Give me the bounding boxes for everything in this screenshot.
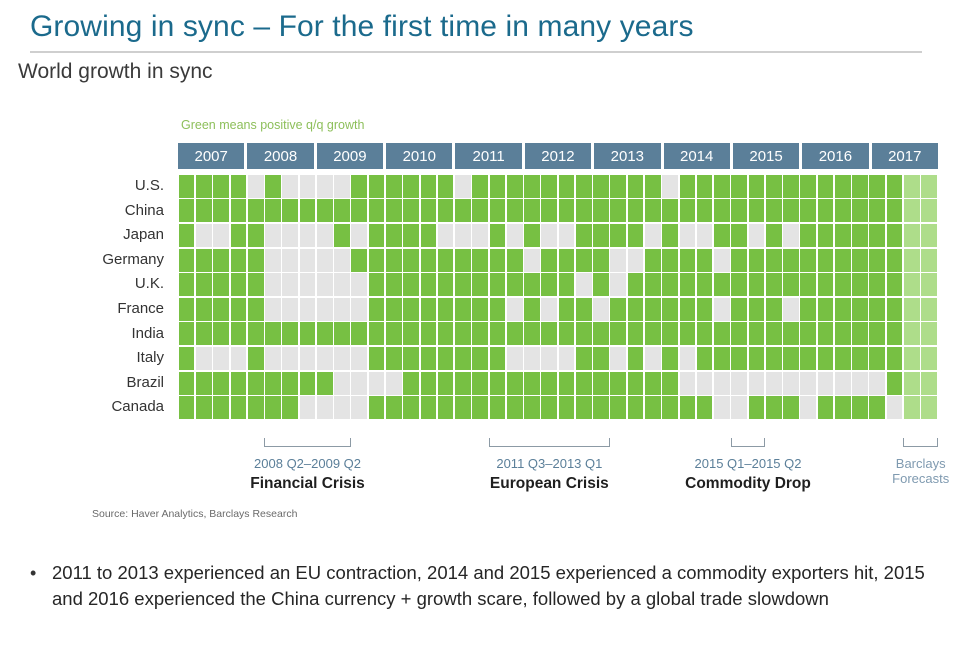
heatmap-cell	[593, 347, 609, 370]
year-header-2008: 2008	[247, 143, 313, 169]
heatmap-cell	[369, 224, 385, 247]
heatmap-cell	[455, 273, 471, 296]
heatmap-cell	[559, 298, 575, 321]
heatmap-cell	[766, 322, 782, 345]
heatmap-cell	[835, 249, 851, 272]
heatmap-cell	[213, 322, 229, 345]
heatmap-cell	[783, 298, 799, 321]
heatmap-cell	[369, 298, 385, 321]
country-label-india: India	[40, 322, 172, 347]
heatmap-cell	[559, 322, 575, 345]
heatmap-cell	[231, 249, 247, 272]
heatmap-cell	[231, 347, 247, 370]
heatmap-cell	[800, 199, 816, 222]
heatmap-cell	[714, 273, 730, 296]
heatmap-cell	[680, 322, 696, 345]
heatmap-cell	[403, 322, 419, 345]
heatmap-cell	[334, 372, 350, 395]
heatmap-cell	[904, 249, 920, 272]
heatmap-cell	[300, 224, 316, 247]
heatmap-row	[178, 272, 938, 297]
heatmap-cell	[610, 175, 626, 198]
heatmap-cell	[334, 249, 350, 272]
heatmap-cell	[317, 298, 333, 321]
heatmap-cell	[386, 175, 402, 198]
heatmap-cell	[645, 396, 661, 419]
heatmap-cell	[921, 175, 937, 198]
heatmap-cell	[887, 199, 903, 222]
heatmap-cell	[231, 322, 247, 345]
heatmap-cell	[282, 199, 298, 222]
heatmap-cell	[421, 175, 437, 198]
heatmap-cell	[628, 372, 644, 395]
heatmap-cell	[300, 199, 316, 222]
heatmap-cell	[731, 224, 747, 247]
year-header-2017: 2017	[872, 143, 938, 169]
heatmap-cell	[265, 347, 281, 370]
heatmap-cell	[334, 273, 350, 296]
heatmap-cell	[438, 347, 454, 370]
heatmap-cell	[610, 372, 626, 395]
heatmap-cell	[835, 273, 851, 296]
heatmap-cell	[904, 347, 920, 370]
heatmap-cell	[852, 273, 868, 296]
bracket-financial-crisis	[264, 438, 350, 447]
heatmap-cell	[576, 322, 592, 345]
heatmap-cell	[248, 199, 264, 222]
country-label-japan: Japan	[40, 223, 172, 248]
heatmap-cell	[610, 224, 626, 247]
heatmap-cell	[680, 372, 696, 395]
heatmap-cell	[697, 199, 713, 222]
heatmap-cell	[282, 298, 298, 321]
heatmap-cell	[593, 298, 609, 321]
heatmap-cell	[351, 372, 367, 395]
heatmap-cell	[541, 372, 557, 395]
heatmap-cell	[317, 396, 333, 419]
heatmap-cell	[421, 224, 437, 247]
heatmap-cell	[766, 372, 782, 395]
heatmap-cell	[749, 273, 765, 296]
heatmap-cell	[490, 249, 506, 272]
heatmap-cell	[265, 175, 281, 198]
heatmap-cell	[265, 199, 281, 222]
heatmap-cell	[317, 372, 333, 395]
heatmap-cell	[818, 298, 834, 321]
heatmap-cell	[317, 322, 333, 345]
heatmap-cell	[317, 199, 333, 222]
heatmap-cell	[403, 396, 419, 419]
heatmap-cell	[697, 396, 713, 419]
heatmap-cell	[645, 175, 661, 198]
heatmap-cell	[800, 249, 816, 272]
heatmap-cell	[697, 273, 713, 296]
heatmap-cell	[731, 372, 747, 395]
heatmap-cell	[869, 372, 885, 395]
heatmap-cell	[714, 199, 730, 222]
heatmap-cell	[662, 249, 678, 272]
heatmap-cell	[662, 175, 678, 198]
heatmap-cell	[714, 322, 730, 345]
heatmap-cell	[248, 249, 264, 272]
heatmap-cell	[731, 199, 747, 222]
heatmap-cell	[593, 273, 609, 296]
heatmap-cell	[179, 322, 195, 345]
heatmap-cell	[852, 175, 868, 198]
heatmap-cell	[887, 322, 903, 345]
heatmap-cell	[783, 347, 799, 370]
heatmap-cell	[645, 372, 661, 395]
bullet-marker: •	[30, 560, 52, 586]
heatmap-cell	[697, 372, 713, 395]
heatmap-cell	[472, 199, 488, 222]
heatmap-cell	[369, 199, 385, 222]
heatmap-cell	[645, 298, 661, 321]
country-label-france: France	[40, 297, 172, 322]
heatmap-cell	[507, 199, 523, 222]
heatmap-cell	[887, 175, 903, 198]
heatmap-cell	[213, 224, 229, 247]
heatmap-cell	[559, 372, 575, 395]
heatmap-cell	[731, 273, 747, 296]
heatmap-cell	[680, 298, 696, 321]
heatmap-cell	[213, 249, 229, 272]
heatmap-cell	[248, 396, 264, 419]
heatmap-cell	[351, 298, 367, 321]
heatmap-cell	[714, 224, 730, 247]
heatmap-cell	[196, 199, 212, 222]
heatmap-cell	[455, 322, 471, 345]
heatmap-cell	[490, 322, 506, 345]
heatmap-cell	[852, 347, 868, 370]
heatmap-cell	[818, 175, 834, 198]
heatmap-cell	[869, 396, 885, 419]
heatmap-cell	[455, 249, 471, 272]
heatmap-cell	[386, 273, 402, 296]
heatmap-cell	[645, 273, 661, 296]
heatmap-cell	[300, 273, 316, 296]
heatmap-cell	[351, 273, 367, 296]
heatmap-cell	[662, 199, 678, 222]
annotation-name-european-crisis: European Crisis	[439, 475, 659, 493]
bracket-barclays-forecast	[903, 438, 938, 447]
heatmap-cell	[282, 224, 298, 247]
heatmap-cell	[472, 347, 488, 370]
heatmap-cell	[507, 224, 523, 247]
heatmap-cell	[524, 249, 540, 272]
heatmap-cell	[818, 199, 834, 222]
heatmap-cell	[351, 199, 367, 222]
annotation-period-european-crisis: 2011 Q3–2013 Q1	[439, 456, 659, 471]
heatmap-cell	[490, 372, 506, 395]
heatmap-cell	[818, 273, 834, 296]
heatmap-cell	[766, 175, 782, 198]
heatmap-cell	[265, 372, 281, 395]
heatmap-cell	[179, 347, 195, 370]
heatmap-cell	[386, 322, 402, 345]
heatmap-cell	[507, 396, 523, 419]
heatmap-cell	[438, 298, 454, 321]
heatmap-cell	[317, 347, 333, 370]
heatmap-cell	[921, 298, 937, 321]
heatmap-cell	[231, 298, 247, 321]
heatmap-cell	[524, 175, 540, 198]
heatmap-cell	[421, 298, 437, 321]
heatmap-cell	[179, 175, 195, 198]
country-axis-labels: U.S.ChinaJapanGermanyU.K.FranceIndiaItal…	[40, 174, 172, 420]
heatmap-cell	[351, 347, 367, 370]
heatmap-cell	[921, 273, 937, 296]
heatmap-cell	[490, 224, 506, 247]
heatmap-cell	[921, 224, 937, 247]
heatmap-cell	[766, 298, 782, 321]
heatmap-cell	[714, 396, 730, 419]
heatmap-cell	[300, 372, 316, 395]
heatmap-cell	[248, 273, 264, 296]
heatmap-cell	[507, 298, 523, 321]
heatmap-cell	[421, 249, 437, 272]
heatmap-cell	[403, 249, 419, 272]
heatmap-cell	[800, 322, 816, 345]
heatmap-cell	[783, 396, 799, 419]
heatmap-cell	[386, 347, 402, 370]
heatmap-cell	[714, 347, 730, 370]
heatmap-cell	[869, 347, 885, 370]
heatmap-cell	[196, 372, 212, 395]
heatmap-cell	[421, 396, 437, 419]
heatmap-cell	[369, 322, 385, 345]
heatmap-cell	[749, 199, 765, 222]
heatmap-cell	[265, 224, 281, 247]
heatmap-cell	[541, 199, 557, 222]
heatmap-cell	[524, 372, 540, 395]
heatmap-cell	[403, 199, 419, 222]
heatmap-cell	[455, 372, 471, 395]
heatmap-cell	[610, 249, 626, 272]
heatmap-cell	[749, 322, 765, 345]
heatmap-cell	[541, 224, 557, 247]
heatmap-cell	[179, 273, 195, 296]
heatmap-cell	[852, 249, 868, 272]
source-note: Source: Haver Analytics, Barclays Resear…	[92, 508, 297, 520]
heatmap-cell	[421, 273, 437, 296]
heatmap-cell	[507, 175, 523, 198]
heatmap-cell	[869, 249, 885, 272]
heatmap-cell	[248, 298, 264, 321]
heatmap-cell	[438, 372, 454, 395]
heatmap-cell	[351, 322, 367, 345]
heatmap-cell	[680, 347, 696, 370]
heatmap-row	[178, 223, 938, 248]
heatmap-cell	[610, 199, 626, 222]
heatmap-cell	[179, 372, 195, 395]
heatmap-cell	[438, 199, 454, 222]
country-label-us: U.S.	[40, 174, 172, 199]
heatmap-cell	[386, 298, 402, 321]
heatmap-cell	[248, 372, 264, 395]
page-subtitle: World growth in sync	[18, 60, 213, 84]
heatmap-cell	[369, 175, 385, 198]
heatmap-cell	[524, 273, 540, 296]
heatmap-cell	[282, 347, 298, 370]
heatmap-cell	[818, 322, 834, 345]
annotation-period-financial-crisis: 2008 Q2–2009 Q2	[198, 456, 418, 471]
heatmap-cell	[386, 372, 402, 395]
heatmap-cell	[438, 224, 454, 247]
heatmap-cell	[438, 322, 454, 345]
heatmap-cell	[213, 175, 229, 198]
heatmap-cell	[921, 199, 937, 222]
heatmap-cell	[559, 249, 575, 272]
heatmap-cell	[887, 249, 903, 272]
heatmap-cell	[559, 224, 575, 247]
heatmap-cell	[196, 396, 212, 419]
heatmap-cell	[731, 249, 747, 272]
heatmap-cell	[282, 372, 298, 395]
heatmap-row	[178, 346, 938, 371]
heatmap-row	[178, 371, 938, 396]
heatmap-cell	[541, 175, 557, 198]
heatmap-cell	[507, 322, 523, 345]
heatmap-cell	[438, 249, 454, 272]
heatmap-cell	[680, 396, 696, 419]
heatmap-cell	[818, 347, 834, 370]
heatmap-cell	[628, 298, 644, 321]
heatmap-cell	[887, 224, 903, 247]
heatmap-cell	[645, 347, 661, 370]
heatmap-cell	[507, 347, 523, 370]
heatmap-cell	[593, 199, 609, 222]
heatmap-cell	[610, 298, 626, 321]
heatmap-cell	[783, 249, 799, 272]
heatmap-cell	[490, 298, 506, 321]
heatmap-cell	[852, 298, 868, 321]
heatmap-cell	[541, 396, 557, 419]
annotation-period-commodity-drop: 2015 Q1–2015 Q2	[638, 456, 858, 471]
heatmap-cell	[403, 175, 419, 198]
heatmap-cell	[369, 273, 385, 296]
heatmap-cell	[714, 372, 730, 395]
heatmap-cell	[576, 199, 592, 222]
heatmap-row	[178, 297, 938, 322]
heatmap-cell	[662, 322, 678, 345]
heatmap-cell	[835, 224, 851, 247]
heatmap-cell	[887, 298, 903, 321]
heatmap-cell	[887, 347, 903, 370]
heatmap-cell	[231, 273, 247, 296]
heatmap-cell	[628, 347, 644, 370]
heatmap-cell	[697, 347, 713, 370]
annotation-barclays-forecast: BarclaysForecasts	[861, 456, 972, 486]
heatmap-cell	[334, 199, 350, 222]
heatmap-cell	[524, 224, 540, 247]
heatmap-cell	[869, 273, 885, 296]
heatmap-cell	[731, 396, 747, 419]
heatmap-cell	[490, 199, 506, 222]
heatmap-cell	[248, 322, 264, 345]
heatmap-cell	[904, 372, 920, 395]
heatmap-cell	[680, 175, 696, 198]
heatmap-cell	[697, 322, 713, 345]
heatmap-cell	[749, 224, 765, 247]
heatmap-cell	[351, 175, 367, 198]
heatmap-cell	[921, 396, 937, 419]
heatmap-cell	[386, 199, 402, 222]
heatmap-cell	[800, 273, 816, 296]
bracket-european-crisis	[489, 438, 610, 447]
slide-root: Growing in sync – For the first time in …	[0, 0, 972, 648]
heatmap-cell	[835, 175, 851, 198]
heatmap-cell	[662, 298, 678, 321]
heatmap-cell	[231, 372, 247, 395]
heatmap-cell	[576, 396, 592, 419]
heatmap-cell	[852, 199, 868, 222]
heatmap-cell	[852, 224, 868, 247]
heatmap-cell	[818, 396, 834, 419]
heatmap-cell	[697, 298, 713, 321]
heatmap-cell	[403, 273, 419, 296]
heatmap-cell	[196, 322, 212, 345]
heatmap-cell	[334, 224, 350, 247]
heatmap-cell	[662, 372, 678, 395]
heatmap-cell	[455, 199, 471, 222]
heatmap-cell	[662, 273, 678, 296]
heatmap-cell	[403, 347, 419, 370]
heatmap-cell	[800, 224, 816, 247]
heatmap-cell	[680, 249, 696, 272]
heatmap-cell	[887, 273, 903, 296]
heatmap-cell	[749, 175, 765, 198]
heatmap-cell	[662, 224, 678, 247]
heatmap-cell	[662, 396, 678, 419]
heatmap-cell	[472, 298, 488, 321]
heatmap-cell	[300, 175, 316, 198]
heatmap-cell	[369, 372, 385, 395]
heatmap-cell	[593, 396, 609, 419]
heatmap-row	[178, 395, 938, 420]
heatmap-cell	[213, 372, 229, 395]
year-header-2016: 2016	[802, 143, 868, 169]
country-label-canada: Canada	[40, 395, 172, 420]
heatmap-cell	[921, 372, 937, 395]
heatmap-cell	[800, 396, 816, 419]
heatmap-cell	[213, 396, 229, 419]
heatmap-cell	[300, 396, 316, 419]
heatmap-cell	[749, 347, 765, 370]
heatmap-cell	[334, 298, 350, 321]
heatmap-cell	[559, 175, 575, 198]
year-header-2012: 2012	[525, 143, 591, 169]
year-header-2007: 2007	[178, 143, 244, 169]
heatmap-cell	[783, 372, 799, 395]
heatmap-row	[178, 199, 938, 224]
heatmap-cell	[334, 175, 350, 198]
heatmap-cell	[610, 347, 626, 370]
heatmap-cell	[576, 175, 592, 198]
heatmap-cell	[421, 199, 437, 222]
heatmap-cell	[576, 224, 592, 247]
heatmap-cell	[282, 396, 298, 419]
heatmap-cell	[455, 347, 471, 370]
heatmap-cell	[265, 249, 281, 272]
heatmap-cell	[438, 396, 454, 419]
heatmap-cell	[179, 249, 195, 272]
heatmap-cell	[472, 175, 488, 198]
heatmap-cell	[662, 347, 678, 370]
heatmap-cell	[818, 224, 834, 247]
growth-heatmap-chart: Green means positive q/q growth 20072008…	[0, 110, 972, 530]
heatmap-cell	[472, 372, 488, 395]
